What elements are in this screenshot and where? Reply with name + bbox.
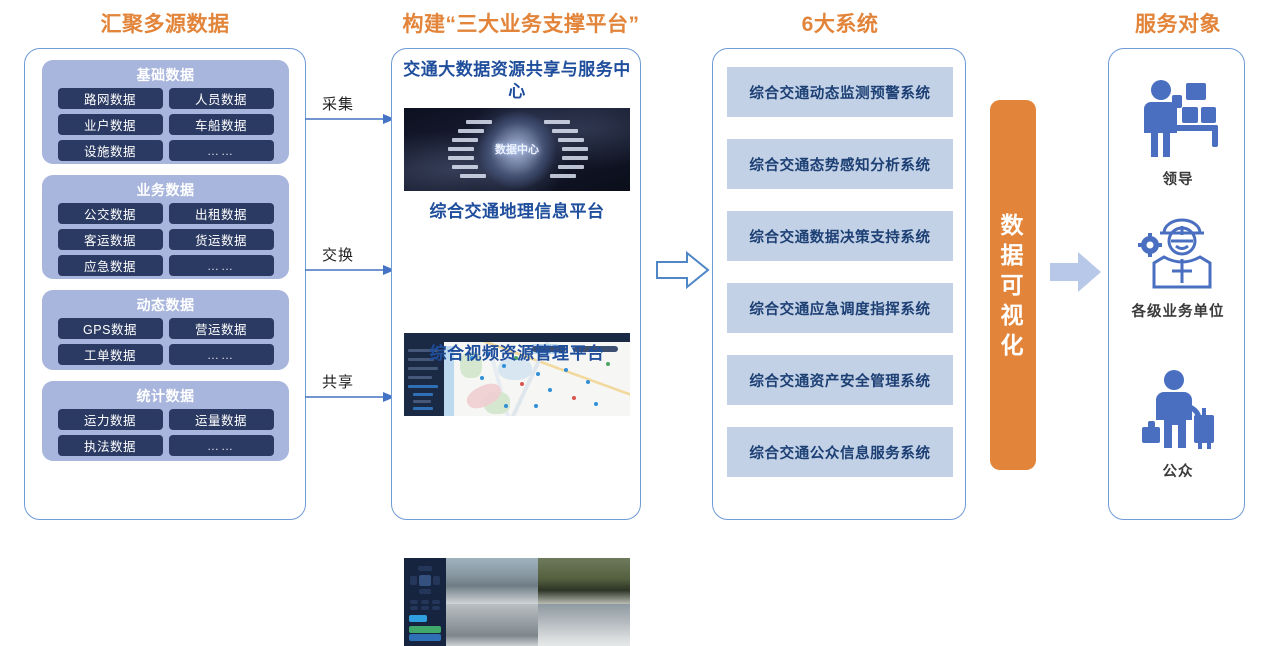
flow-arrow-exchange-icon <box>305 263 397 277</box>
flow-label-collect: 采集 <box>322 93 354 114</box>
platform-title-gis: 综合交通地理信息平台 <box>402 201 632 223</box>
data-visualization-bar: 数 据 可 视 化 <box>990 100 1036 470</box>
data-group-title: 业务数据 <box>42 175 289 201</box>
data-group-title: 基础数据 <box>42 60 289 86</box>
data-chip-list: 公交数据 出租数据 客运数据 货运数据 应急数据 …… <box>42 201 289 284</box>
data-chip-ellipsis[interactable]: …… <box>169 344 274 365</box>
system-box[interactable]: 综合交通公众信息服务系统 <box>727 427 953 477</box>
column-title-sources: 汇聚多源数据 <box>101 8 230 38</box>
audience-label: 领导 <box>1098 168 1258 189</box>
platform-title-data-center: 交通大数据资源共享与服务中心 <box>402 59 632 103</box>
column-title-platforms: 构建“三大业务支撑平台” <box>403 8 640 38</box>
system-box[interactable]: 综合交通数据决策支持系统 <box>727 211 953 261</box>
flow-label-exchange: 交换 <box>322 244 354 265</box>
data-group-statistics: 统计数据 运力数据 运量数据 执法数据 …… <box>42 381 289 461</box>
flow-arrow-share-icon <box>305 390 397 404</box>
data-chip[interactable]: 工单数据 <box>58 344 163 365</box>
audience-item-leader[interactable]: 领导 <box>1098 75 1258 189</box>
system-box[interactable]: 综合交通动态监测预警系统 <box>727 67 953 117</box>
system-box[interactable]: 综合交通资产安全管理系统 <box>727 355 953 405</box>
data-chip-list: 运力数据 运量数据 执法数据 …… <box>42 407 289 464</box>
data-chip[interactable]: 路网数据 <box>58 88 163 109</box>
data-chip-list: 路网数据 人员数据 业户数据 车船数据 设施数据 …… <box>42 86 289 169</box>
data-chip-ellipsis[interactable]: …… <box>169 140 274 161</box>
data-chip-ellipsis[interactable]: …… <box>169 435 274 456</box>
system-box[interactable]: 综合交通态势感知分析系统 <box>727 139 953 189</box>
data-chip-list: GPS数据 营运数据 工单数据 …… <box>42 316 289 373</box>
data-chip[interactable]: 车船数据 <box>169 114 274 135</box>
data-chip[interactable]: 业户数据 <box>58 114 163 135</box>
flow-label-share: 共享 <box>322 371 354 392</box>
platform-to-system-arrow-icon <box>655 250 711 290</box>
data-group-title: 统计数据 <box>42 381 289 407</box>
platform-title-video: 综合视频资源管理平台 <box>402 343 632 365</box>
sources-panel: 基础数据 路网数据 人员数据 业户数据 车船数据 设施数据 …… 业务数据 公交… <box>24 48 306 520</box>
data-visualization-label: 数 据 可 视 化 <box>998 210 1028 360</box>
audience-item-public[interactable]: 公众 <box>1098 367 1258 481</box>
vbar-char: 数 <box>998 210 1028 240</box>
data-chip[interactable]: 运力数据 <box>58 409 163 430</box>
vbar-char: 可 <box>998 270 1028 300</box>
data-group-title: 动态数据 <box>42 290 289 316</box>
infographic-canvas: 汇聚多源数据 构建“三大业务支撑平台” 6大系统 服务对象 基础数据 路网数据 … <box>0 0 1269 540</box>
data-center-screenshot: 数据中心 <box>404 108 630 191</box>
data-center-caption: 数据中心 <box>495 144 539 156</box>
flow-arrow-collect-icon <box>305 112 397 126</box>
vbar-char: 化 <box>998 330 1028 360</box>
data-chip[interactable]: GPS数据 <box>58 318 163 339</box>
data-chip[interactable]: 客运数据 <box>58 229 163 250</box>
video-wall-screenshot <box>404 558 630 646</box>
data-chip[interactable]: 出租数据 <box>169 203 274 224</box>
audience-label: 公众 <box>1098 460 1258 481</box>
system-to-audience-arrow-icon <box>1050 250 1102 294</box>
data-chip[interactable]: 运量数据 <box>169 409 274 430</box>
data-chip[interactable]: 设施数据 <box>58 140 163 161</box>
audience-item-business-units[interactable]: 各级业务单位 <box>1098 213 1258 321</box>
data-chip[interactable]: 执法数据 <box>58 435 163 456</box>
data-group-dynamic: 动态数据 GPS数据 营运数据 工单数据 …… <box>42 290 289 370</box>
vbar-char: 视 <box>998 300 1028 330</box>
data-group-basic: 基础数据 路网数据 人员数据 业户数据 车船数据 设施数据 …… <box>42 60 289 164</box>
data-chip[interactable]: 人员数据 <box>169 88 274 109</box>
data-chip[interactable]: 营运数据 <box>169 318 274 339</box>
systems-panel: 综合交通动态监测预警系统 综合交通态势感知分析系统 综合交通数据决策支持系统 综… <box>712 48 966 520</box>
data-chip[interactable]: 公交数据 <box>58 203 163 224</box>
audience-panel: 领导 <box>1108 48 1245 520</box>
data-group-business: 业务数据 公交数据 出租数据 客运数据 货运数据 应急数据 …… <box>42 175 289 279</box>
platforms-panel: 交通大数据资源共享与服务中心 数据中心 综合交通地理信息平台 <box>391 48 641 520</box>
vbar-char: 据 <box>998 240 1028 270</box>
leader-presenting-icon <box>1136 75 1220 161</box>
data-chip[interactable]: 应急数据 <box>58 255 163 276</box>
audience-label: 各级业务单位 <box>1098 300 1258 321</box>
engineer-gear-icon <box>1136 213 1220 293</box>
column-title-systems: 6大系统 <box>802 8 879 38</box>
system-box[interactable]: 综合交通应急调度指挥系统 <box>727 283 953 333</box>
column-title-audience: 服务对象 <box>1135 8 1221 38</box>
data-chip-ellipsis[interactable]: …… <box>169 255 274 276</box>
data-chip[interactable]: 货运数据 <box>169 229 274 250</box>
traveler-luggage-icon <box>1136 367 1220 453</box>
